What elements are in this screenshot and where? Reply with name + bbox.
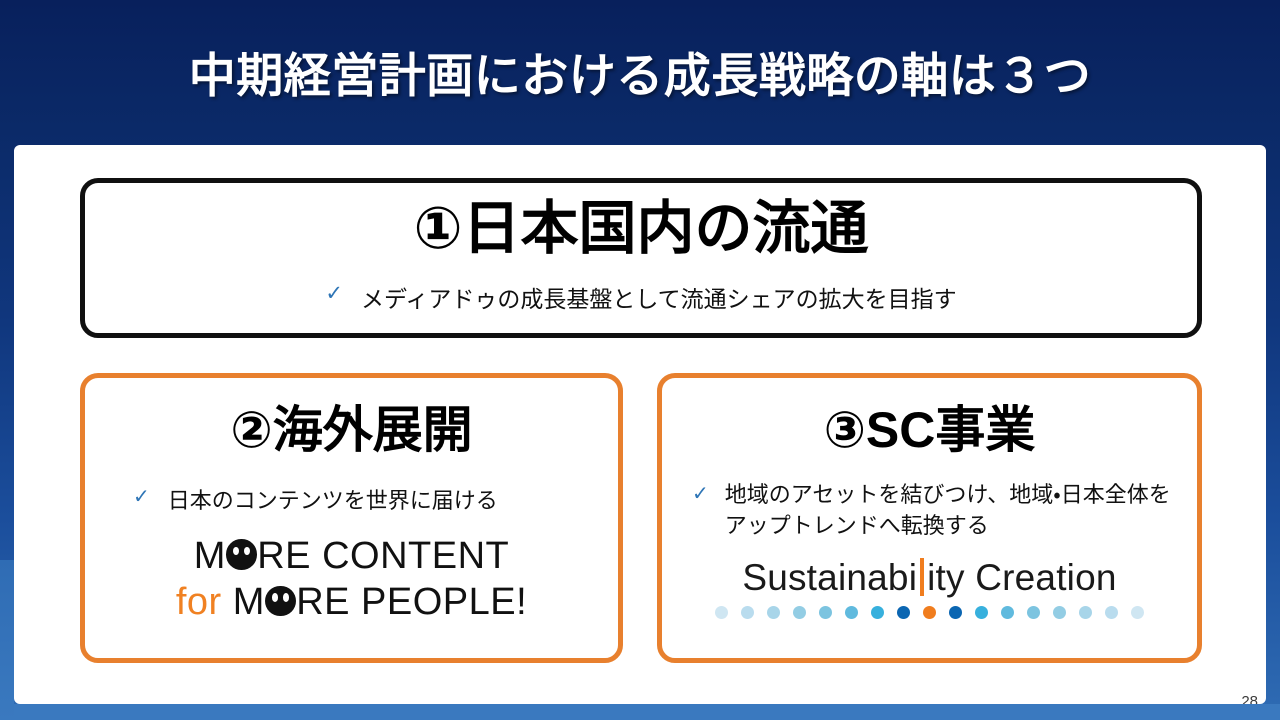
sustainability-dot-16 — [1131, 606, 1144, 619]
sustainability-dot-4 — [819, 606, 832, 619]
sus-part-1: Sustainabi — [742, 557, 917, 598]
strategy-box-overseas-expansion: ②海外展開 ✓ 日本のコンテンツを世界に届ける MRE CONTENT for … — [80, 373, 623, 663]
content-panel: ①日本国内の流通 ✓ メディアドゥの成長基盤として流通シェアの拡大を目指す ②海… — [14, 145, 1266, 704]
strategy-box-2-bullet: ✓ 日本のコンテンツを世界に届ける — [85, 483, 618, 515]
sus-part-2: ity Creation — [927, 557, 1117, 598]
logo-line1-pre: M — [194, 535, 226, 577]
sustainability-dot-10 — [975, 606, 988, 619]
smiley-face-icon — [265, 586, 295, 616]
logo-line2-orange: for — [176, 581, 222, 623]
strategy-box-2-heading: ②海外展開 — [85, 404, 618, 457]
sustainability-dot-3 — [793, 606, 806, 619]
sustainability-dot-12 — [1027, 606, 1040, 619]
more-content-for-more-people-logo: MRE CONTENT for MRE PEOPLE! — [85, 533, 618, 626]
check-icon: ✓ — [692, 481, 709, 506]
sustainability-dot-row — [662, 606, 1197, 619]
title-band: 中期経営計画における成長戦略の軸は３つ — [0, 0, 1280, 142]
strategy-box-domestic-distribution: ①日本国内の流通 ✓ メディアドゥの成長基盤として流通シェアの拡大を目指す — [80, 178, 1202, 338]
sustainability-dot-2 — [767, 606, 780, 619]
sustainability-dot-6 — [871, 606, 884, 619]
strategy-box-1-heading: ①日本国内の流通 — [85, 199, 1197, 260]
sustainability-dot-14 — [1079, 606, 1092, 619]
frame-accent-bottom — [0, 704, 1280, 720]
sustainability-dot-1 — [741, 606, 754, 619]
orange-bar-icon — [920, 558, 924, 596]
sustainability-dot-13 — [1053, 606, 1066, 619]
logo-line-1: MRE CONTENT — [85, 533, 618, 579]
strategy-box-3-bullet: ✓ 地域のアセットを結びつけ、地域・日本全体をアップトレンドへ転換する — [662, 479, 1197, 541]
logo-line2-pre: M — [233, 581, 265, 623]
slide-root: 中期経営計画における成長戦略の軸は３つ ①日本国内の流通 ✓ メディアドゥの成長… — [0, 0, 1280, 720]
sustainability-creation-logo: Sustainabiity Creation — [662, 557, 1197, 619]
sustainability-dot-7 — [897, 606, 910, 619]
logo-line-2: for MRE PEOPLE! — [85, 579, 618, 625]
strategy-box-2-bullet-text: 日本のコンテンツを世界に届ける — [168, 483, 498, 515]
strategy-box-3-bullet-text: 地域のアセットを結びつけ、地域・日本全体をアップトレンドへ転換する — [725, 479, 1187, 541]
sustainability-dot-9 — [949, 606, 962, 619]
frame-accent-left — [0, 560, 14, 720]
check-icon: ✓ — [133, 484, 150, 509]
page-title: 中期経営計画における成長戦略の軸は３つ — [189, 37, 1092, 106]
check-icon: ✓ — [325, 281, 343, 306]
strategy-box-sc-business: ③SC事業 ✓ 地域のアセットを結びつけ、地域・日本全体をアップトレンドへ転換す… — [657, 373, 1202, 663]
strategy-box-1-bullet: ✓ メディアドゥの成長基盤として流通シェアの拡大を目指す — [85, 280, 1197, 314]
sustainability-dot-0 — [715, 606, 728, 619]
smiley-face-icon — [226, 539, 256, 569]
strategy-box-1-bullet-text: メディアドゥの成長基盤として流通シェアの拡大を目指す — [361, 280, 957, 314]
logo-line2-post: RE PEOPLE! — [296, 581, 527, 623]
strategy-box-3-heading: ③SC事業 — [662, 404, 1197, 457]
sustainability-dot-8 — [923, 606, 936, 619]
logo-line2-space — [222, 581, 233, 623]
sustainability-dot-15 — [1105, 606, 1118, 619]
logo-line1-post: RE CONTENT — [257, 535, 509, 577]
sustainability-dot-5 — [845, 606, 858, 619]
sustainability-creation-wordmark: Sustainabiity Creation — [662, 557, 1197, 599]
sustainability-dot-11 — [1001, 606, 1014, 619]
